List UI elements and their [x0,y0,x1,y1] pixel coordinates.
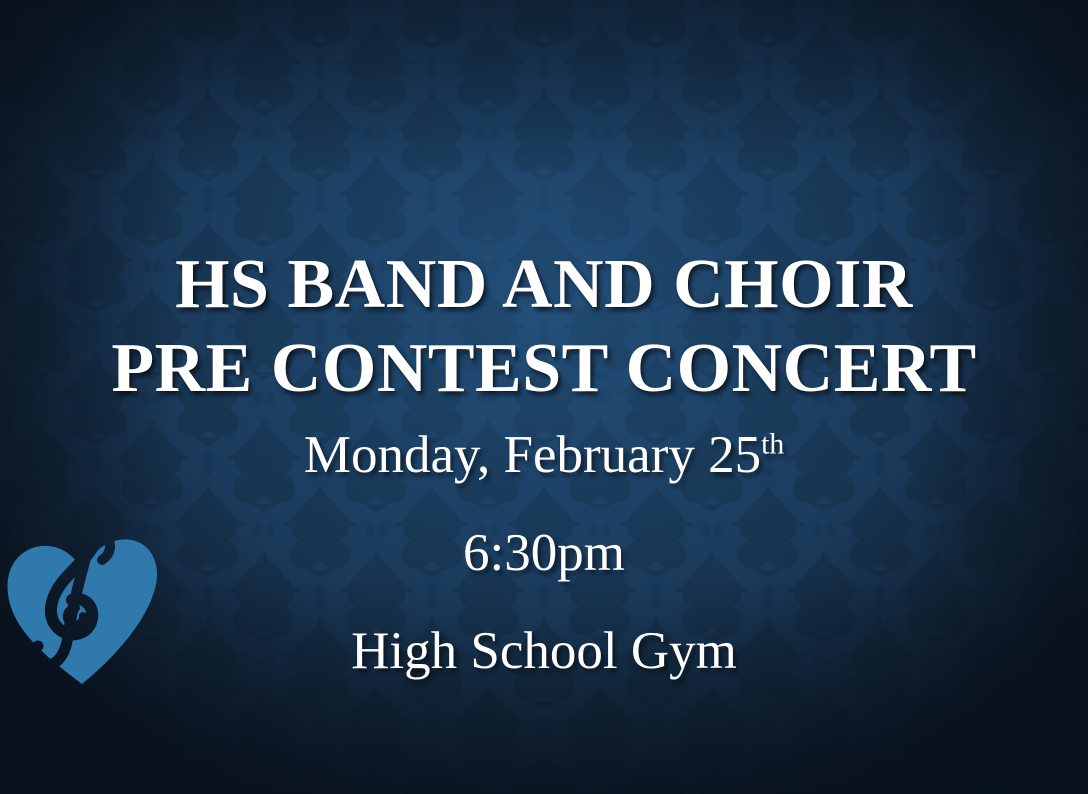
event-location: High School Gym [0,621,1088,681]
slide-title: HS BAND AND CHOIR PRE CONTEST CONCERT [0,243,1088,411]
title-line-1: HS BAND AND CHOIR [0,243,1088,327]
event-time: 6:30pm [0,523,1088,583]
event-slide: HS BAND AND CHOIR PRE CONTEST CONCERT Mo… [0,0,1088,794]
title-line-2: PRE CONTEST CONCERT [0,327,1088,411]
event-date-ordinal-suffix: th [761,428,784,460]
event-date-text: Monday, February 25 [304,426,761,484]
slide-details: Monday, February 25th 6:30pm High School… [0,425,1088,681]
event-date: Monday, February 25th [0,425,1088,485]
slide-content: HS BAND AND CHOIR PRE CONTEST CONCERT Mo… [0,0,1088,794]
music-heart-treble-clef-logo [2,512,162,688]
